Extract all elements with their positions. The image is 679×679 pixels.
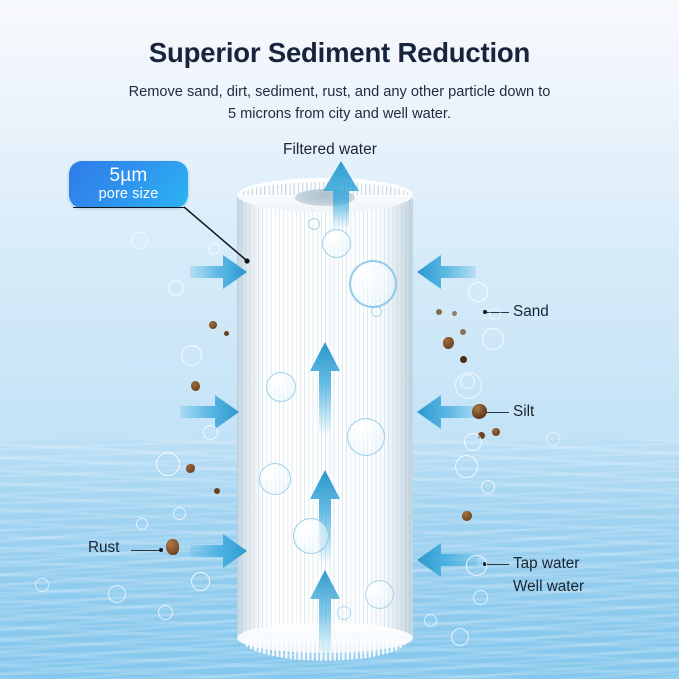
bubble bbox=[489, 308, 501, 320]
rust-leader-dot bbox=[159, 548, 163, 552]
inflow-arrow-right-3 bbox=[416, 540, 478, 580]
bubble bbox=[464, 433, 482, 451]
page-subtitle: Remove sand, dirt, sediment, rust, and a… bbox=[0, 69, 679, 125]
bubble bbox=[191, 572, 210, 591]
bubble bbox=[451, 628, 469, 646]
bubble bbox=[482, 328, 504, 350]
subtitle-line-2: 5 microns from city and well water. bbox=[0, 103, 679, 125]
page-title: Superior Sediment Reduction bbox=[0, 0, 679, 69]
header: Superior Sediment Reduction Remove sand,… bbox=[0, 0, 679, 125]
filtered-water-arrow-up bbox=[320, 159, 362, 229]
bubble bbox=[108, 585, 126, 603]
bubble bbox=[424, 614, 437, 627]
callout-label-silt: Silt bbox=[513, 403, 534, 421]
sand-leader-line bbox=[487, 312, 509, 313]
bubble bbox=[131, 232, 148, 249]
callout-label-rust: Rust bbox=[88, 539, 119, 557]
filtered-water-label: Filtered water bbox=[283, 141, 377, 159]
bubble bbox=[481, 480, 495, 494]
particle-dirt bbox=[224, 331, 229, 336]
particle-sand bbox=[452, 311, 457, 316]
bubble bbox=[460, 374, 475, 389]
particle-silt bbox=[462, 511, 472, 521]
bubble bbox=[473, 590, 488, 605]
rust-leader-line bbox=[131, 550, 159, 551]
tapwater-leader-line bbox=[487, 564, 509, 565]
particle-sand bbox=[443, 337, 454, 349]
callout-label-sand: Sand bbox=[513, 303, 549, 321]
pore-size-caption: pore size bbox=[69, 186, 188, 203]
bubble bbox=[156, 452, 180, 476]
callout-label-tap-water: Tap water bbox=[513, 555, 579, 573]
bubble bbox=[181, 345, 202, 366]
silt-leader-line bbox=[487, 412, 509, 413]
particle-sand bbox=[460, 356, 467, 363]
bubble bbox=[158, 605, 173, 620]
infographic-canvas: Superior Sediment Reduction Remove sand,… bbox=[0, 0, 679, 679]
particle-sand bbox=[460, 329, 466, 335]
bubble bbox=[173, 507, 186, 520]
cartridge-body bbox=[237, 188, 413, 643]
inflow-arrow-right-1 bbox=[416, 252, 476, 292]
bubble bbox=[168, 280, 184, 296]
particle-dirt bbox=[191, 381, 200, 391]
bubble bbox=[136, 518, 148, 530]
bubble bbox=[455, 455, 478, 478]
bubble bbox=[546, 432, 560, 446]
particle-rust bbox=[166, 539, 179, 555]
filter-cartridge bbox=[237, 178, 413, 661]
bubble bbox=[455, 372, 482, 399]
particle-dirt bbox=[186, 464, 195, 473]
inflow-arrow-right-2 bbox=[416, 392, 478, 432]
badge-leader-horizontal bbox=[73, 207, 185, 208]
callout-label-well-water: Well water bbox=[513, 578, 584, 596]
bubble bbox=[468, 282, 488, 302]
pore-size-badge[interactable]: 5µm pore size bbox=[69, 161, 188, 208]
inflow-arrow-left-2 bbox=[180, 392, 240, 432]
badge-leader-diagonal bbox=[184, 205, 254, 265]
pore-size-value: 5µm bbox=[69, 161, 188, 186]
particle-sand bbox=[436, 309, 442, 315]
subtitle-line-1: Remove sand, dirt, sediment, rust, and a… bbox=[0, 81, 679, 103]
particle-silt bbox=[492, 428, 500, 436]
particle-silt bbox=[478, 432, 485, 439]
particle-dirt bbox=[209, 321, 217, 329]
bubble bbox=[35, 578, 49, 592]
bubble bbox=[203, 425, 218, 440]
cartridge-bottom-pleats bbox=[241, 639, 409, 661]
particle-dirt bbox=[214, 488, 220, 494]
